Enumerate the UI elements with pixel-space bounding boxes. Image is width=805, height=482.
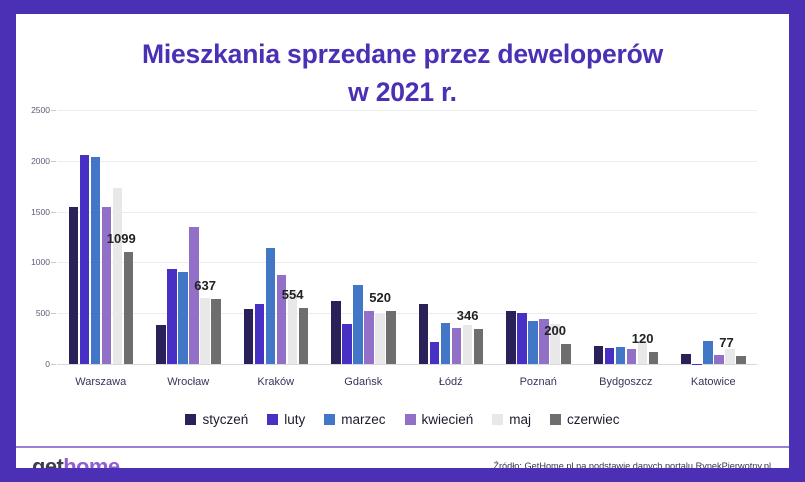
- chart-card: Mieszkania sprzedane przez deweloperów w…: [16, 14, 789, 468]
- x-axis-label: Katowice: [670, 366, 758, 388]
- gridline-0: 0: [57, 364, 757, 365]
- legend-item-kwiecień[interactable]: kwiecień: [405, 412, 474, 427]
- bar: [594, 346, 604, 364]
- y-axis-tickmark-500: [51, 313, 56, 314]
- bar: [714, 355, 724, 364]
- bar: [353, 285, 363, 364]
- bar-group: 346: [407, 110, 495, 364]
- bar: [463, 325, 473, 364]
- bar: [419, 304, 429, 364]
- x-axis-label: Warszawa: [57, 366, 145, 388]
- legend-swatch-icon: [405, 414, 416, 425]
- bar: [528, 321, 538, 364]
- legend-label: maj: [509, 412, 531, 427]
- bar: [703, 341, 713, 364]
- y-axis-tick-500: 500: [36, 308, 50, 318]
- bar: [649, 352, 659, 364]
- legend-label: styczeń: [202, 412, 248, 427]
- bar: [441, 323, 451, 364]
- legend-label: marzec: [341, 412, 385, 427]
- bar-group: 120: [582, 110, 670, 364]
- y-axis-tickmark-1500: [51, 212, 56, 213]
- y-axis-tickmark-2500: [51, 110, 56, 111]
- bar-group: 554: [232, 110, 320, 364]
- x-axis-label: Gdańsk: [320, 366, 408, 388]
- bar: [91, 157, 101, 364]
- y-axis-tick-0: 0: [45, 359, 50, 369]
- y-axis-tickmark-2000: [51, 161, 56, 162]
- bar: [255, 304, 265, 364]
- y-axis-tick-1000: 1000: [31, 257, 50, 267]
- bar-groups: 109963755452034620012077: [57, 110, 757, 364]
- bar-group: 1099: [57, 110, 145, 364]
- x-axis-label: Wrocław: [145, 366, 233, 388]
- y-axis-tick-1500: 1500: [31, 207, 50, 217]
- legend-item-marzec[interactable]: marzec: [324, 412, 385, 427]
- data-label: 346: [457, 308, 479, 323]
- bar: [506, 311, 516, 364]
- bar: [244, 309, 254, 364]
- chart-title-line1: Mieszkania sprzedane przez deweloperów: [142, 39, 663, 69]
- bar: [113, 188, 123, 364]
- bar: [80, 155, 90, 364]
- bar: [725, 349, 735, 364]
- bar: [736, 356, 746, 364]
- bar: [364, 311, 374, 364]
- bar: [627, 349, 637, 364]
- legend-label: kwiecień: [422, 412, 474, 427]
- bar: [102, 207, 112, 364]
- data-label: 637: [194, 278, 216, 293]
- source-note: Źródło: GetHome.pl na podstawie danych p…: [493, 461, 771, 468]
- logo-text-get: get: [32, 454, 63, 468]
- x-axis-label: Łódź: [407, 366, 495, 388]
- data-label: 1099: [107, 231, 136, 246]
- data-label: 554: [282, 287, 304, 302]
- bar: [200, 298, 210, 364]
- x-axis-label: Poznań: [495, 366, 583, 388]
- bar-group: 77: [670, 110, 758, 364]
- legend-label: luty: [284, 412, 305, 427]
- legend-label: czerwiec: [567, 412, 620, 427]
- bar: [474, 329, 484, 364]
- chart-legend: styczeńlutymarzeckwiecieńmajczerwiec: [16, 412, 789, 427]
- data-label: 77: [719, 335, 733, 350]
- bar: [288, 292, 298, 364]
- chart-frame: Mieszkania sprzedane przez deweloperów w…: [0, 0, 805, 482]
- data-label: 520: [369, 290, 391, 305]
- legend-item-czerwiec[interactable]: czerwiec: [550, 412, 620, 427]
- bar-group: 637: [145, 110, 233, 364]
- legend-swatch-icon: [324, 414, 335, 425]
- bar: [211, 299, 221, 364]
- legend-item-styczeń[interactable]: styczeń: [185, 412, 248, 427]
- bar-group: 520: [320, 110, 408, 364]
- x-axis-label: Kraków: [232, 366, 320, 388]
- legend-swatch-icon: [492, 414, 503, 425]
- footer-divider: [16, 446, 789, 448]
- legend-item-maj[interactable]: maj: [492, 412, 531, 427]
- logo-text-home: home.: [63, 454, 125, 468]
- bar: [124, 252, 134, 364]
- bar: [681, 354, 691, 364]
- y-axis-tickmark-0: [51, 364, 56, 365]
- bar: [452, 328, 462, 364]
- bar-group: 200: [495, 110, 583, 364]
- data-label: 200: [544, 323, 566, 338]
- y-axis-tick-2000: 2000: [31, 156, 50, 166]
- bar: [386, 311, 396, 364]
- bar: [299, 308, 309, 364]
- bar: [167, 269, 177, 365]
- bar: [430, 342, 440, 364]
- bar: [692, 364, 702, 365]
- chart-title-line2: w 2021 r.: [16, 74, 789, 112]
- data-label: 120: [632, 331, 654, 346]
- bar: [178, 272, 188, 364]
- bar: [375, 314, 385, 364]
- legend-swatch-icon: [185, 414, 196, 425]
- gethome-logo: gethome.: [32, 454, 125, 468]
- plot-area: 05001000150020002500 1099637554520346200…: [57, 110, 757, 364]
- bar: [69, 207, 79, 364]
- y-axis-tickmark-1000: [51, 262, 56, 263]
- bar: [266, 248, 276, 364]
- y-axis-tick-2500: 2500: [31, 105, 50, 115]
- chart-title: Mieszkania sprzedane przez deweloperów w…: [16, 36, 789, 111]
- bar: [605, 348, 615, 364]
- legend-item-luty[interactable]: luty: [267, 412, 305, 427]
- x-axis-labels: WarszawaWrocławKrakówGdańskŁódźPoznańByd…: [57, 366, 757, 388]
- legend-swatch-icon: [550, 414, 561, 425]
- bar: [517, 313, 527, 364]
- bar: [561, 344, 571, 364]
- x-axis-label: Bydgoszcz: [582, 366, 670, 388]
- bar: [189, 227, 199, 364]
- bar: [342, 324, 352, 364]
- bar: [156, 325, 166, 364]
- legend-swatch-icon: [267, 414, 278, 425]
- bar: [331, 301, 341, 365]
- bar: [616, 347, 626, 364]
